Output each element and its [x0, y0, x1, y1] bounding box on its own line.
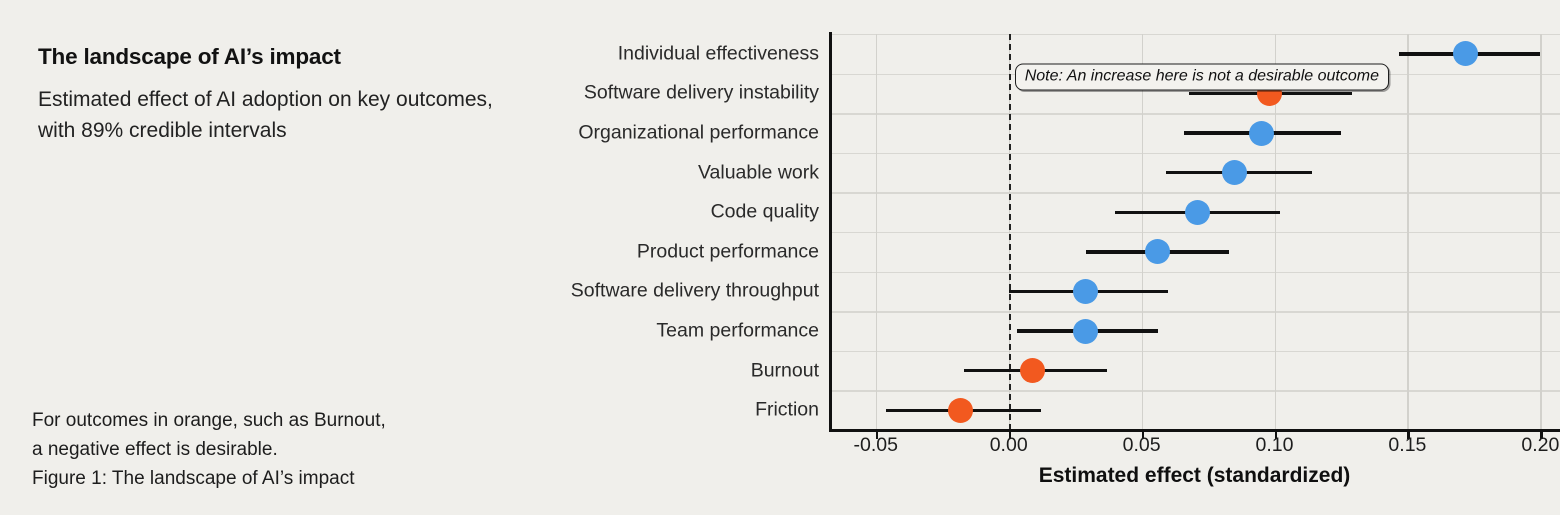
gridline-horizontal [829, 390, 1560, 391]
y-axis-label: Valuable work [519, 161, 819, 184]
estimate-point[interactable] [1222, 160, 1247, 185]
estimate-point[interactable] [1453, 41, 1478, 66]
y-axis-spine [829, 32, 832, 432]
x-axis-tick-label: 0.05 [1123, 434, 1161, 457]
gridline-vertical [1142, 34, 1144, 430]
y-axis-label: Software delivery instability [519, 82, 819, 105]
estimate-point[interactable] [948, 398, 973, 423]
y-axis-label: Software delivery throughput [519, 280, 819, 303]
estimate-point[interactable] [1249, 121, 1274, 146]
y-axis-label: Individual effectiveness [519, 42, 819, 65]
y-axis-labels: Individual effectivenessSoftware deliver… [509, 34, 819, 430]
plot-area: Note: An increase here is not a desirabl… [829, 34, 1560, 430]
estimate-point[interactable] [1185, 200, 1210, 225]
gridline-horizontal [829, 153, 1560, 154]
x-axis-tick-label: 0.00 [990, 434, 1028, 457]
figure-root: The landscape of AI’s impact Estimated e… [0, 0, 1560, 515]
chart-panel: Individual effectivenessSoftware deliver… [0, 0, 1560, 515]
x-axis-tick-label: 0.10 [1256, 434, 1294, 457]
y-axis-label: Team performance [519, 320, 819, 343]
estimate-point[interactable] [1020, 358, 1045, 383]
chart-annotation-note: Note: An increase here is not a desirabl… [1015, 63, 1389, 90]
gridline-horizontal [829, 113, 1560, 114]
gridline-vertical [1407, 34, 1409, 430]
y-axis-label: Friction [519, 399, 819, 422]
x-axis-spine [829, 429, 1560, 432]
estimate-point[interactable] [1073, 279, 1098, 304]
x-axis-title: Estimated effect (standardized) [829, 464, 1560, 488]
y-axis-label: Code quality [519, 201, 819, 224]
y-axis-label: Product performance [519, 240, 819, 263]
x-axis-tick-label: -0.05 [854, 434, 898, 457]
gridline-horizontal [829, 192, 1560, 193]
gridline-horizontal [829, 34, 1560, 35]
estimate-point[interactable] [1145, 239, 1170, 264]
estimate-point[interactable] [1073, 319, 1098, 344]
y-axis-label: Burnout [519, 359, 819, 382]
gridline-horizontal [829, 232, 1560, 233]
x-axis-tick-label: 0.20 [1521, 434, 1559, 457]
y-axis-label: Organizational performance [519, 122, 819, 145]
gridline-horizontal [829, 311, 1560, 312]
x-axis-tick-label: 0.15 [1388, 434, 1426, 457]
gridline-vertical [876, 34, 878, 430]
gridline-horizontal [829, 351, 1560, 352]
gridline-horizontal [829, 272, 1560, 273]
gridline-vertical [1540, 34, 1542, 430]
